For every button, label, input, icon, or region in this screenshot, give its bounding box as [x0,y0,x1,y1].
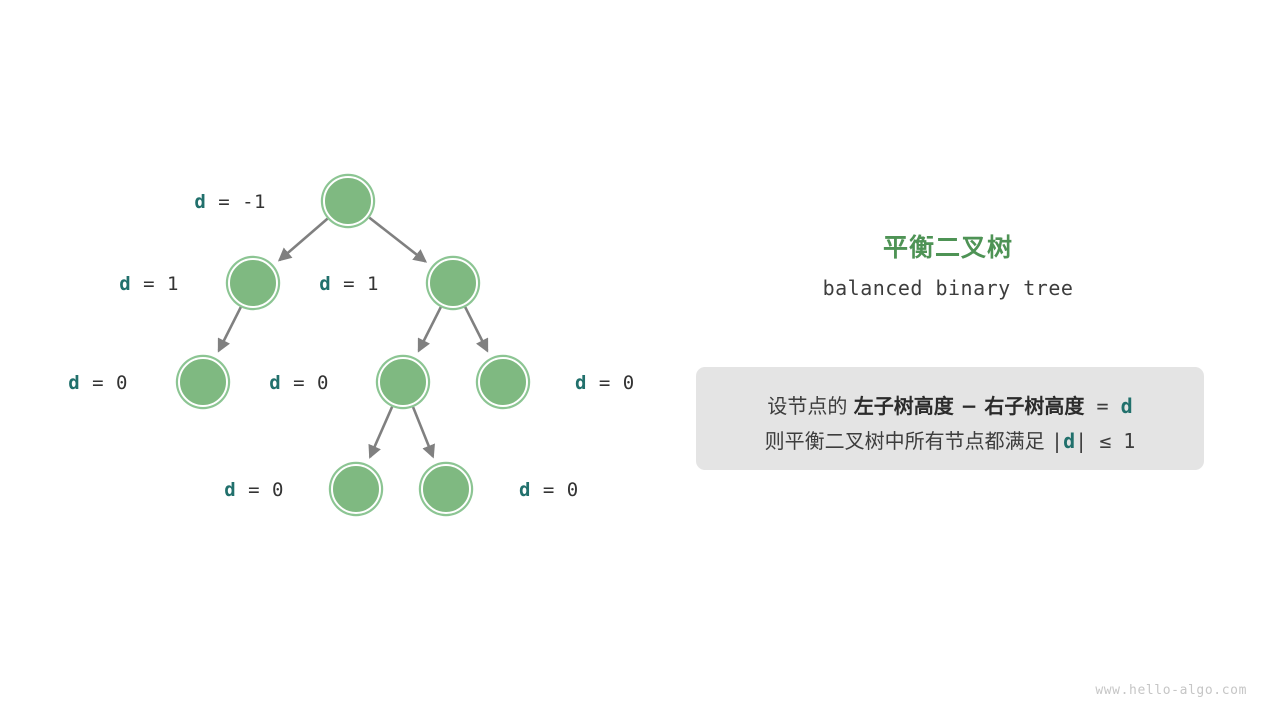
tree-edge [465,307,487,351]
definition-line2-prefix: 则平衡二叉树中所有节点都满足 [765,429,1051,453]
balance-factor-value: = -1 [206,191,266,213]
balance-factor-value: = 0 [587,372,635,394]
tree-node[interactable] [478,357,528,407]
balance-factor-variable: d [68,372,80,394]
definition-line-1: 设节点的 左子树高度 − 右子树高度 = d [696,390,1204,419]
node-balance-factor-label: d = -1 [194,191,266,213]
tree-node[interactable] [428,258,478,308]
node-balance-factor-label: d = 1 [319,273,379,295]
tree-edge [413,407,433,456]
tree-edge [419,307,441,351]
balance-factor-variable: d [119,273,131,295]
definition-line1-bold: 左子树高度 − 右子树高度 [854,394,1085,418]
tree-node[interactable] [178,357,228,407]
tree-edge [369,218,425,262]
tree-node[interactable] [331,464,381,514]
tree-edge [219,307,241,351]
node-balance-factor-label: d = 0 [224,479,284,501]
tree-node[interactable] [323,176,373,226]
balance-factor-variable: d [269,372,281,394]
diagram-title-english: balanced binary tree [660,276,1236,300]
binary-tree-diagram: d = -1d = 1d = 1d = 0d = 0d = 0d = 0d = … [0,0,660,720]
tree-edge [279,219,327,260]
tree-node[interactable] [378,357,428,407]
tree-edge-group [219,218,487,457]
definition-line2-variable: d [1063,429,1075,453]
balance-factor-value: = 1 [331,273,379,295]
node-balance-factor-label: d = 1 [119,273,179,295]
tree-node[interactable] [228,258,278,308]
definition-line2-bar-close: | [1075,429,1087,453]
definition-line1-variable: d [1121,394,1133,418]
balance-factor-value: = 0 [531,479,579,501]
balance-factor-value: = 0 [281,372,329,394]
definition-line2-bar-open: | [1051,429,1063,453]
node-balance-factor-label: d = 0 [519,479,579,501]
balance-factor-variable: d [194,191,206,213]
diagram-canvas: d = -1d = 1d = 1d = 0d = 0d = 0d = 0d = … [0,0,1280,720]
balance-factor-variable: d [224,479,236,501]
diagram-title-chinese: 平衡二叉树 [660,228,1236,264]
info-panel: 平衡二叉树 balanced binary tree 设节点的 左子树高度 − … [660,0,1280,720]
tree-edges-layer [0,0,660,720]
tree-node[interactable] [421,464,471,514]
definition-line2-suffix: ≤ 1 [1087,429,1135,453]
balance-factor-value: = 0 [236,479,284,501]
node-balance-factor-label: d = 0 [269,372,329,394]
node-balance-factor-label: d = 0 [575,372,635,394]
tree-edge [370,407,392,457]
definition-line1-prefix: 设节点的 [767,394,853,418]
definition-line-2: 则平衡二叉树中所有节点都满足 |d| ≤ 1 [696,425,1204,454]
definition-box: 设节点的 左子树高度 − 右子树高度 = d 则平衡二叉树中所有节点都满足 |d… [696,367,1204,470]
balance-factor-variable: d [319,273,331,295]
definition-line1-equals: = [1084,394,1120,418]
node-balance-factor-label: d = 0 [68,372,128,394]
balance-factor-variable: d [575,372,587,394]
balance-factor-variable: d [519,479,531,501]
balance-factor-value: = 1 [131,273,179,295]
watermark: www.hello-algo.com [1095,683,1247,698]
balance-factor-value: = 0 [80,372,128,394]
